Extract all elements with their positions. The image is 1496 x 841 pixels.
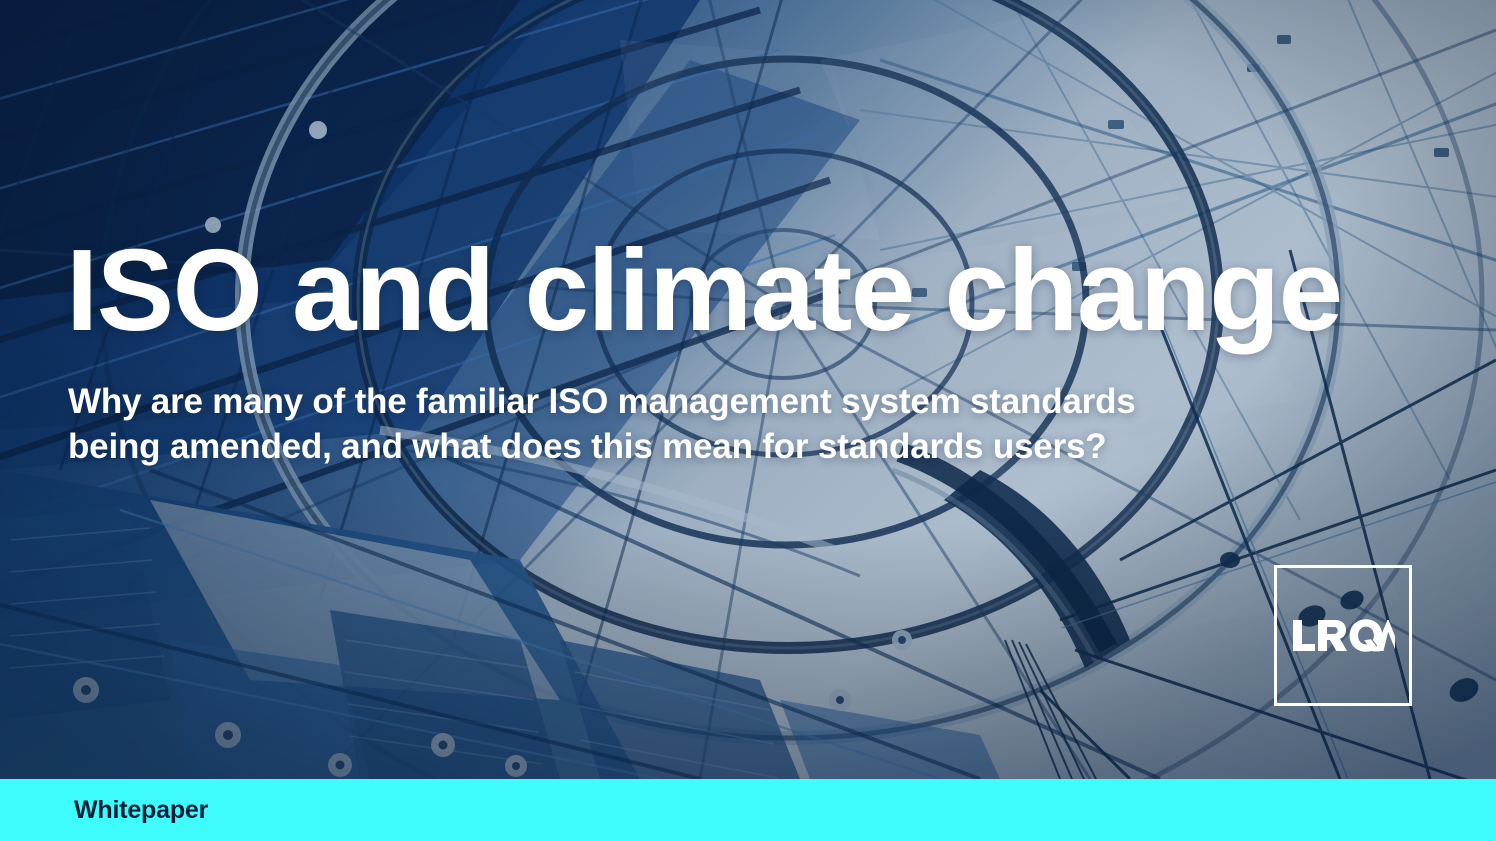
page-title: ISO and climate change xyxy=(66,232,1342,348)
lrqa-logo-icon xyxy=(1291,616,1395,656)
document-type-label: Whitepaper xyxy=(74,795,208,825)
whitepaper-cover: ISO and climate change Why are many of t… xyxy=(0,0,1496,841)
page-subtitle: Why are many of the familiar ISO managem… xyxy=(68,379,1328,469)
subtitle-line-1: Why are many of the familiar ISO managem… xyxy=(68,379,1328,424)
lrqa-logo xyxy=(1274,565,1412,706)
footer-bar: Whitepaper xyxy=(0,779,1496,841)
subtitle-line-2: being amended, and what does this mean f… xyxy=(68,424,1328,469)
